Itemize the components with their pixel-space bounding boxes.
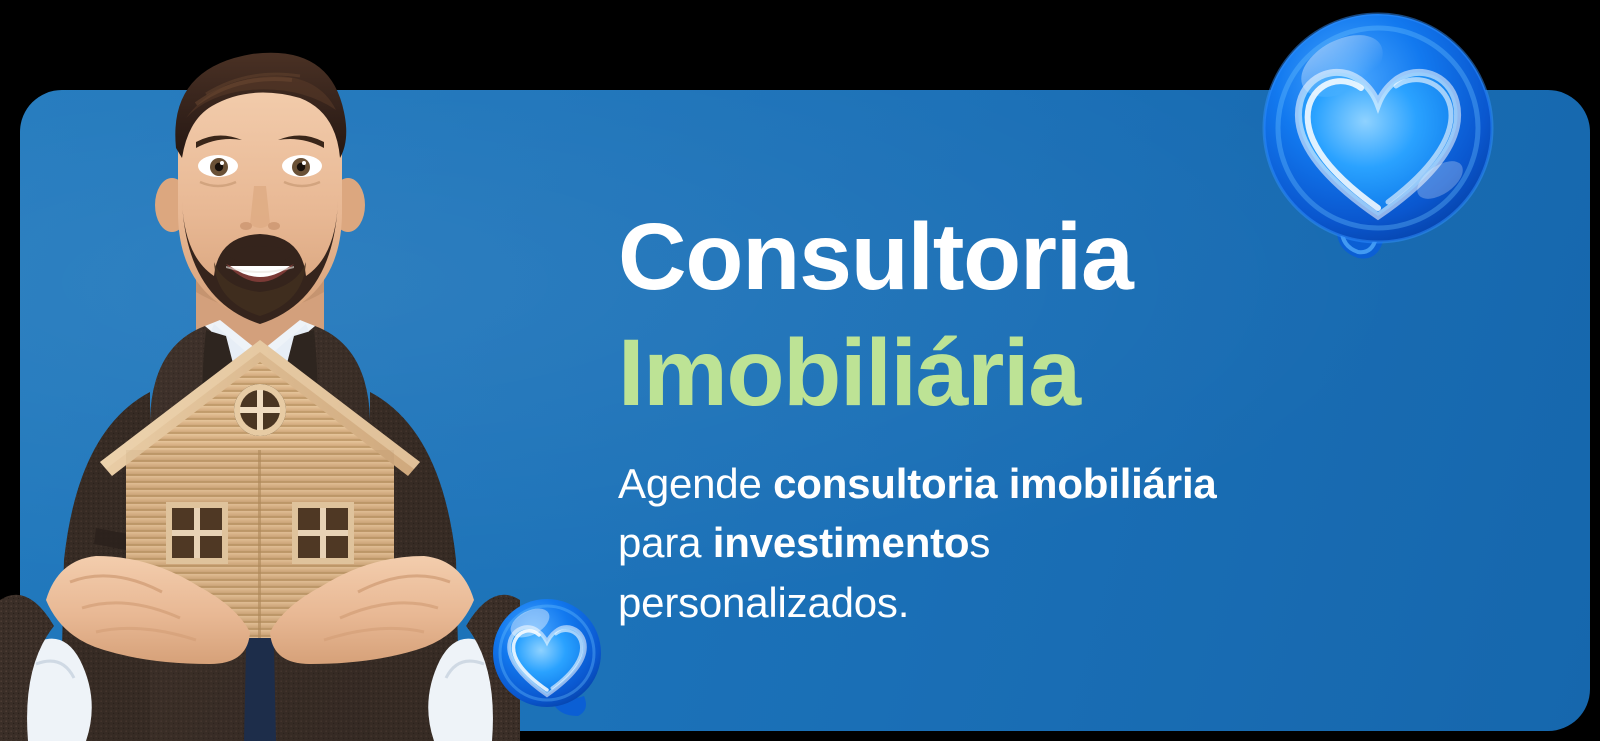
text-content: Consultoria Imobiliária Agende consultor… [618, 200, 1398, 633]
subtitle-line-2-bold: investimento [713, 519, 970, 566]
subtitle-line-1-prefix: Agende [618, 460, 773, 507]
heart-balloon-large [1262, 12, 1494, 264]
heart-balloon-large-icon [1262, 12, 1494, 264]
subtitle-line-1-bold: consultoria imobiliária [773, 460, 1217, 507]
banner-root: Consultoria Imobiliária Agende consultor… [0, 0, 1600, 741]
subtitle-line-2-suffix: s [969, 519, 990, 566]
heart-balloon-small [492, 598, 604, 722]
subtitle-line-2-prefix: para [618, 519, 713, 566]
headline-line-2-accent: Imobiliária [618, 316, 1398, 432]
heart-balloon-small-icon [492, 598, 604, 722]
subtitle: Agende consultoria imobiliária para inve… [618, 454, 1398, 633]
subtitle-line-3: personalizados. [618, 573, 1398, 633]
subtitle-line-2: para investimentos [618, 513, 1398, 573]
subtitle-line-1: Agende consultoria imobiliária [618, 454, 1398, 514]
